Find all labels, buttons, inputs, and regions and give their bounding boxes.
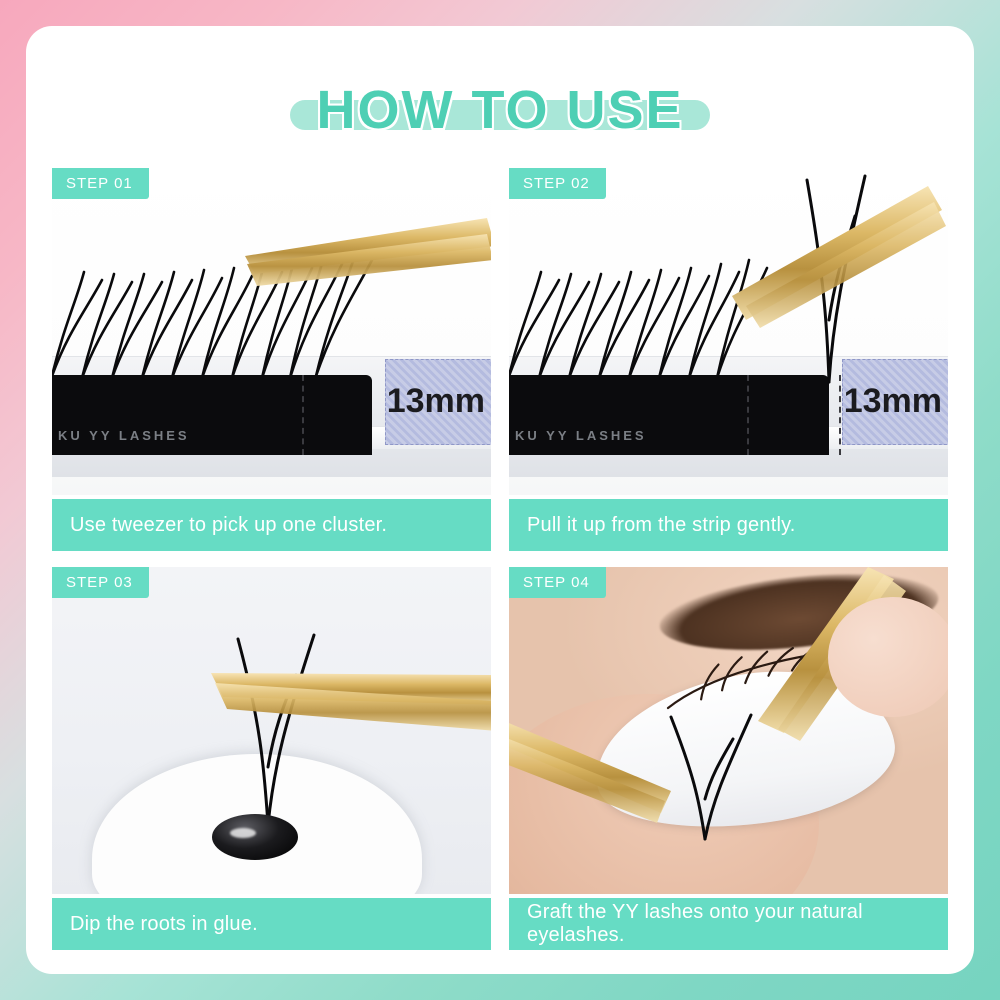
tweezer-3 — [205, 649, 491, 779]
step-caption-text-4: Graft the YY lashes onto your natural ey… — [527, 901, 948, 947]
step-panel-3: STEP 03 — [52, 567, 491, 950]
step-panel-2: STEP 02 — [509, 168, 948, 551]
step-photo-4 — [509, 567, 948, 894]
glue-highlight-3 — [230, 828, 256, 838]
gradient-frame: HOW TO USE STEP 01 — [0, 0, 1000, 1000]
tweezer-1 — [237, 212, 491, 342]
step-panel-1: STEP 01 — [52, 168, 491, 551]
brand-text-2: KU YY LASHES — [515, 428, 647, 443]
content-card: HOW TO USE STEP 01 — [26, 26, 974, 974]
dash-line-2b — [839, 375, 842, 455]
size-label-1: 13mm — [387, 382, 485, 421]
glue-drop-3 — [212, 814, 298, 860]
dash-line-1 — [302, 375, 305, 455]
tweezer-2 — [728, 178, 948, 328]
step-badge-1: STEP 01 — [52, 168, 149, 199]
step-badge-4: STEP 04 — [509, 567, 606, 598]
step-panel-4: STEP 04 — [509, 567, 948, 950]
step-caption-text-1: Use tweezer to pick up one cluster. — [70, 514, 387, 537]
step-badge-2: STEP 02 — [509, 168, 606, 199]
page-title: HOW TO USE — [26, 70, 974, 150]
step-caption-2: Pull it up from the strip gently. — [509, 499, 948, 551]
title-text: HOW TO USE — [316, 79, 683, 141]
steps-grid: STEP 01 — [52, 168, 948, 950]
step-caption-1: Use tweezer to pick up one cluster. — [52, 499, 491, 551]
step-caption-4: Graft the YY lashes onto your natural ey… — [509, 898, 948, 950]
step-badge-3: STEP 03 — [52, 567, 149, 598]
step-photo-2: 13mm KU YY LASHES — [509, 168, 948, 495]
step-photo-1: 13mm KU YY LASHES — [52, 168, 491, 495]
fingers-4 — [828, 597, 948, 717]
step-caption-text-3: Dip the roots in glue. — [70, 913, 258, 936]
size-label-2: 13mm — [844, 382, 942, 421]
dash-line-2a — [747, 375, 750, 455]
step-caption-text-2: Pull it up from the strip gently. — [527, 514, 796, 537]
brand-text-1: KU YY LASHES — [58, 428, 190, 443]
tweezer-4-lower — [509, 717, 729, 857]
step-caption-3: Dip the roots in glue. — [52, 898, 491, 950]
step-photo-3 — [52, 567, 491, 894]
